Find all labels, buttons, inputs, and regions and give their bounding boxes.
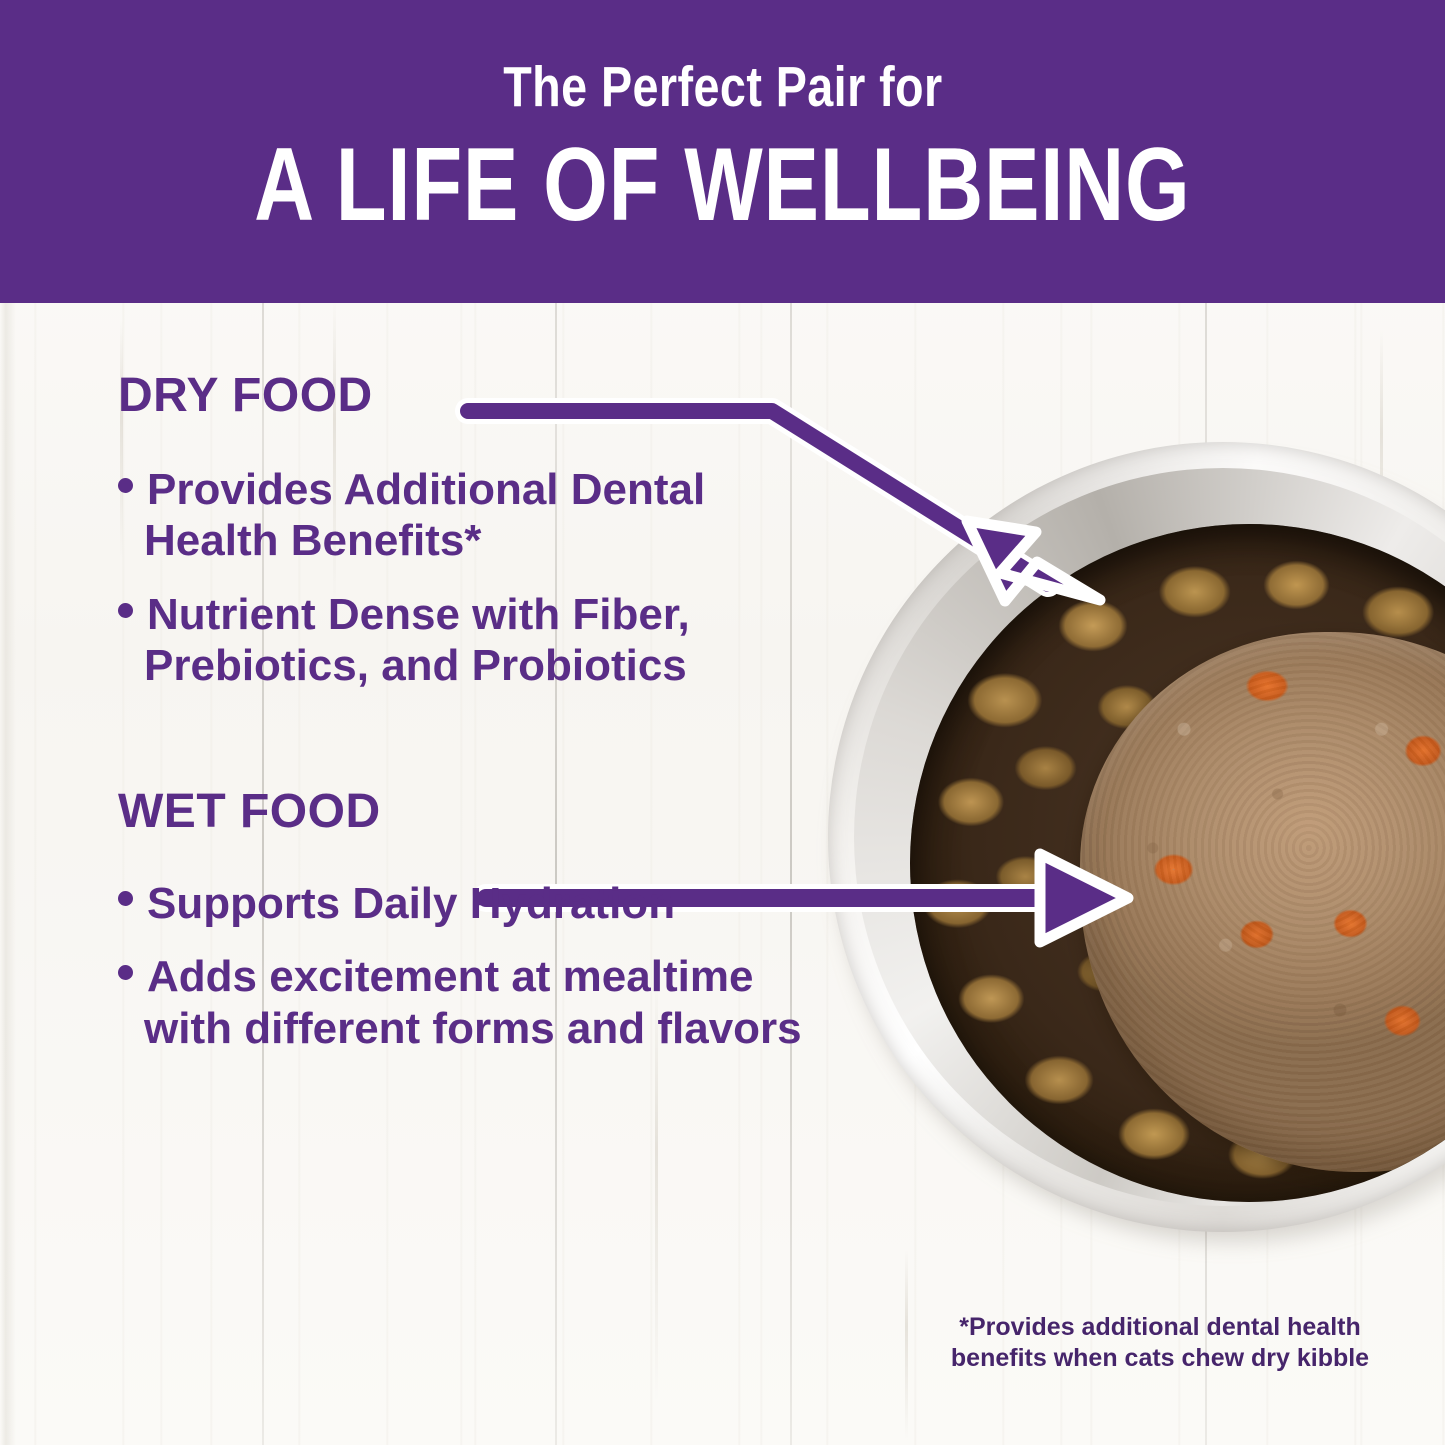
bullet-text: Nutrient Dense with Fiber, Prebiotics, a… xyxy=(144,590,690,690)
bullet-dot-icon xyxy=(118,965,133,980)
bullet-dot-icon xyxy=(118,478,133,493)
list-item: Provides Additional Dental Health Benefi… xyxy=(118,464,818,567)
benefits-text-column: DRY FOOD Provides Additional Dental Heal… xyxy=(118,372,818,1076)
bowl-outer-rim xyxy=(828,442,1445,1232)
list-item: Supports Daily Hydration xyxy=(118,878,818,929)
list-item: Nutrient Dense with Fiber, Prebiotics, a… xyxy=(118,589,818,692)
bullet-text: Adds excitement at mealtime with differe… xyxy=(144,952,802,1052)
dry-food-heading: DRY FOOD xyxy=(118,372,818,420)
wet-food-bullet-list: Supports Daily Hydration Adds excitement… xyxy=(118,878,818,1054)
bullet-dot-icon xyxy=(118,603,133,618)
bowl-inner-rim xyxy=(854,468,1445,1206)
wet-food-heading: WET FOOD xyxy=(118,788,818,836)
header-title: A LIFE OF WELLBEING xyxy=(254,132,1191,238)
food-bowl-photo xyxy=(828,442,1445,1242)
bowl-well xyxy=(910,524,1445,1202)
header-banner: The Perfect Pair for A LIFE OF WELLBEING xyxy=(0,0,1445,303)
dry-food-bullet-list: Provides Additional Dental Health Benefi… xyxy=(118,464,818,692)
promo-infographic: The Perfect Pair for A LIFE OF WELLBEING xyxy=(0,0,1445,1445)
bullet-dot-icon xyxy=(118,891,133,906)
header-subtitle: The Perfect Pair for xyxy=(503,59,942,116)
bullet-text: Supports Daily Hydration xyxy=(147,879,675,928)
wood-grain xyxy=(905,1250,908,1440)
list-item: Adds excitement at mealtime with differe… xyxy=(118,951,818,1054)
bullet-text: Provides Additional Dental Health Benefi… xyxy=(144,465,705,565)
section-spacer xyxy=(118,714,818,788)
footnote-text: *Provides additional dental health benef… xyxy=(950,1312,1370,1373)
